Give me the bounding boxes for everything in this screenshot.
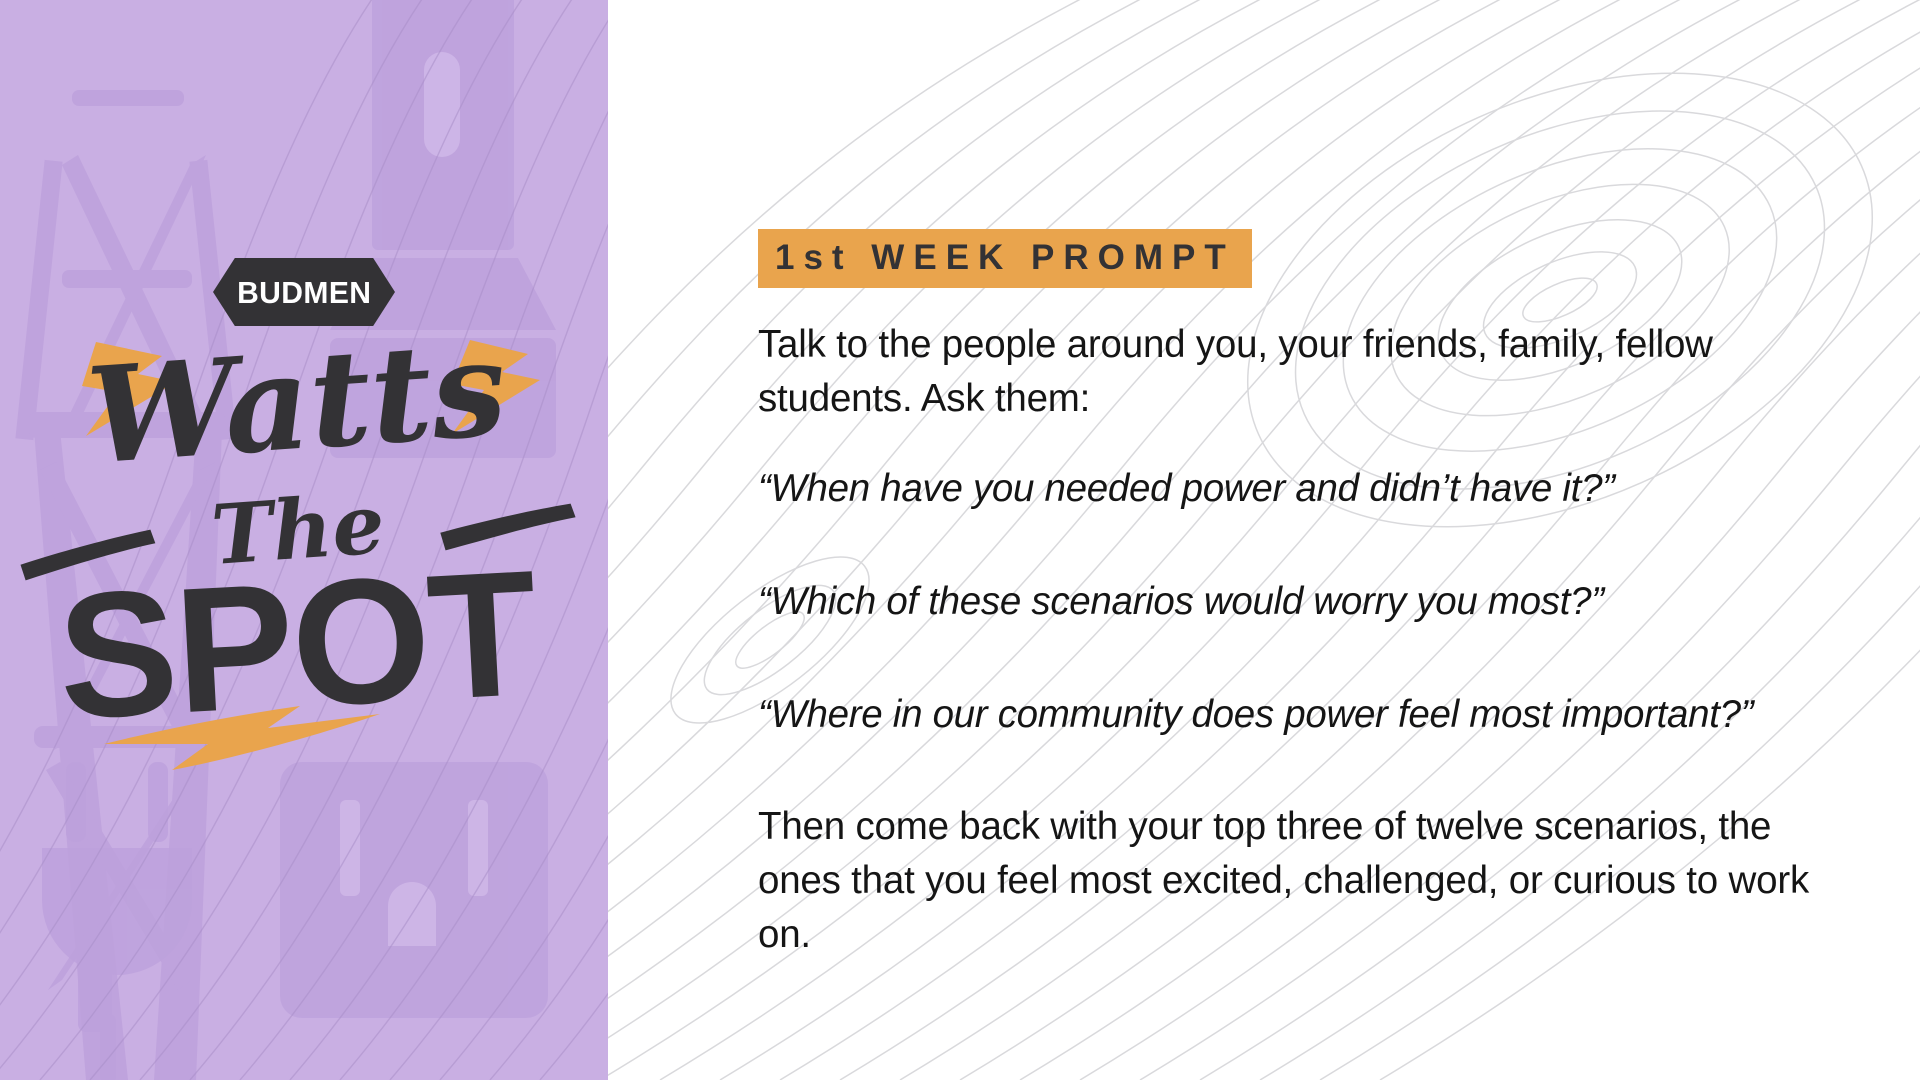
question-3: “Where in our community does power feel …	[758, 688, 1828, 742]
week-prompt-banner: 1st WEEK PROMPT	[758, 229, 1252, 288]
logotype-word-watts: Watts	[83, 311, 511, 495]
closing-paragraph: Then come back with your top three of tw…	[758, 800, 1828, 962]
question-1: “When have you needed power and didn’t h…	[758, 462, 1828, 516]
prompt-content: 1st WEEK PROMPT Talk to the people aroun…	[758, 0, 1858, 1080]
logotype-word-spot: SPOT	[54, 533, 541, 757]
question-2: “Which of these scenarios would worry yo…	[758, 575, 1828, 629]
intro-paragraph: Talk to the people around you, your frie…	[758, 318, 1828, 426]
budmen-logo-badge: BUDMEN	[213, 258, 395, 326]
budmen-logo-label: BUDMEN	[237, 277, 371, 308]
wall-outlet-icon	[280, 762, 548, 1018]
slide-root: BUDMEN Watts The	[0, 0, 1920, 1080]
left-brand-panel: BUDMEN Watts The	[0, 0, 608, 1080]
prompt-body: Talk to the people around you, your frie…	[758, 318, 1828, 962]
watts-the-spot-logotype: Watts The SPOT	[0, 330, 608, 790]
week-prompt-banner-label: 1st WEEK PROMPT	[775, 240, 1235, 275]
